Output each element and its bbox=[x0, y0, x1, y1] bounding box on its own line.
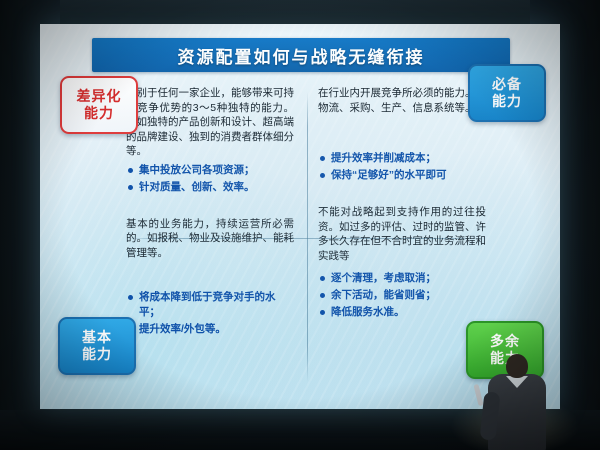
tag-surplus-line1: 多余 bbox=[490, 333, 520, 350]
right-paragraph-2: 不能对战略起到支持作用的过往投资。如过多的评估、过时的监管、许多长久存在但不合时… bbox=[318, 205, 486, 263]
right-paragraph-1: 在行业内开展竞争所必须的能力。如物流、采购、生产、信息系统等。 bbox=[318, 86, 486, 115]
tag-basic-capability: 基本 能力 bbox=[58, 317, 136, 375]
tag-basic-line2: 能力 bbox=[82, 346, 112, 363]
column-divider bbox=[307, 92, 308, 382]
list-item: 提升效率/外包等。 bbox=[126, 322, 294, 337]
right-bullets-2: 逐个清理，考虑取消； 余下活动，能省则省； 降低服务水准。 bbox=[318, 271, 486, 320]
slide-title-banner: 资源配置如何与战略无缝衔接 bbox=[92, 38, 510, 72]
left-bullets-1: 集中投放公司各项资源； 针对质量、创新、效率。 bbox=[126, 163, 294, 195]
projected-slide: 资源配置如何与战略无缝衔接 有别于任何一家企业，能够带来可持续竞争优势的3～5种… bbox=[40, 24, 560, 409]
tag-basic-line1: 基本 bbox=[82, 329, 112, 346]
tag-differentiating-line1: 差异化 bbox=[77, 88, 122, 105]
tag-essential-line1: 必备 bbox=[492, 76, 522, 93]
tag-essential-line2: 能力 bbox=[492, 93, 522, 110]
presenter-silhouette bbox=[480, 354, 558, 450]
right-column: 在行业内开展竞争所必须的能力。如物流、采购、生产、信息系统等。 提升效率并削减成… bbox=[318, 86, 486, 322]
list-item: 将成本降到低于竞争对手的水平； bbox=[126, 290, 294, 320]
list-item: 提升效率并削减成本； bbox=[318, 151, 486, 166]
right-bullets-1: 提升效率并削减成本； 保持“足够好”的水平即可 bbox=[318, 151, 486, 183]
left-paragraph-1: 有别于任何一家企业，能够带来可持续竞争优势的3～5种独特的能力。例如独特的产品创… bbox=[126, 86, 294, 159]
presenter-head bbox=[506, 354, 528, 378]
list-item: 针对质量、创新、效率。 bbox=[126, 180, 294, 195]
list-item: 集中投放公司各项资源； bbox=[126, 163, 294, 178]
tag-essential-capability: 必备 能力 bbox=[468, 64, 546, 122]
left-paragraph-2: 基本的业务能力，持续运营所必需的。如报税、物业及设施维护、能耗管理等。 bbox=[126, 217, 294, 261]
screenshot-stage: 资源配置如何与战略无缝衔接 有别于任何一家企业，能够带来可持续竞争优势的3～5种… bbox=[0, 0, 600, 450]
list-item: 逐个清理，考虑取消； bbox=[318, 271, 486, 286]
list-item: 保持“足够好”的水平即可 bbox=[318, 168, 486, 183]
left-bullets-2: 将成本降到低于竞争对手的水平； 提升效率/外包等。 bbox=[126, 290, 294, 337]
ceiling bbox=[0, 0, 600, 26]
list-item: 余下活动，能省则省； bbox=[318, 288, 486, 303]
left-column: 有别于任何一家企业，能够带来可持续竞争优势的3～5种独特的能力。例如独特的产品创… bbox=[126, 86, 294, 339]
page-title: 资源配置如何与战略无缝衔接 bbox=[178, 43, 425, 68]
tag-differentiating-line2: 能力 bbox=[84, 105, 114, 122]
tag-differentiating-capability: 差异化 能力 bbox=[60, 76, 138, 134]
list-item: 降低服务水准。 bbox=[318, 305, 486, 320]
slide-body: 有别于任何一家企业，能够带来可持续竞争优势的3～5种独特的能力。例如独特的产品创… bbox=[126, 86, 486, 386]
